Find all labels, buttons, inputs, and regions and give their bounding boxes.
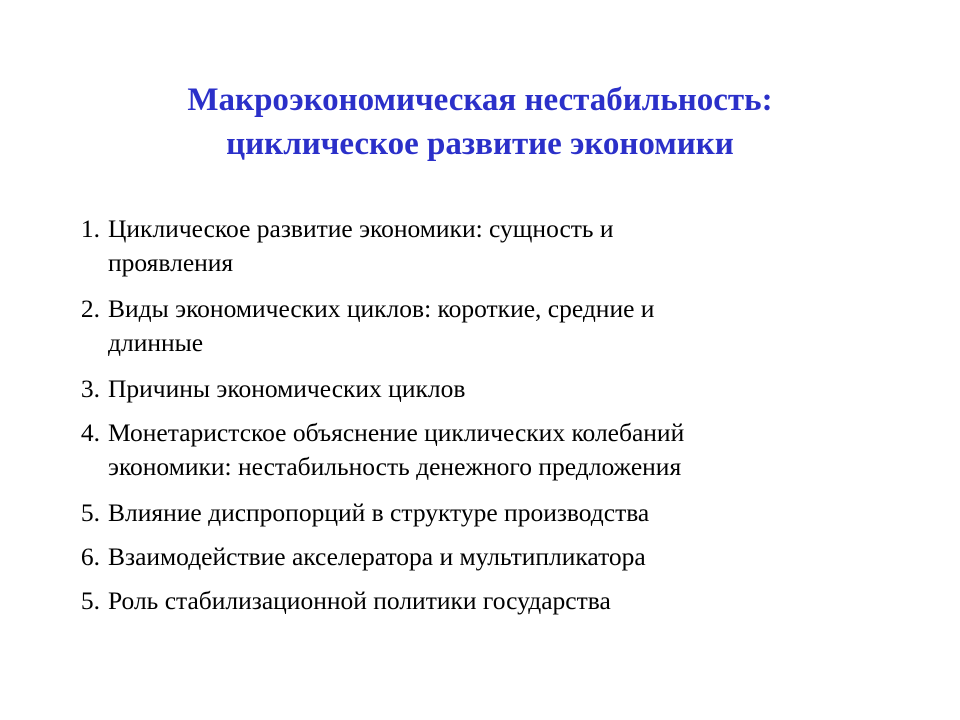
list-item-line-1: Взаимодействие акселератора и мультиплик… [108, 542, 646, 571]
list-item-line-1: Влияние диспропорций в структуре произво… [108, 498, 649, 527]
slide-canvas: Макроэкономическая нестабильность: цикли… [0, 0, 960, 720]
list-item-marker: 6. [72, 540, 108, 574]
list-item-line-1: Виды экономических циклов: короткие, сре… [108, 294, 654, 323]
list-item-line-1: Роль стабилизационной политики государст… [108, 586, 611, 615]
page-title-line-2: циклическое развитие экономики [60, 122, 900, 166]
list-item-marker: 3. [72, 372, 108, 406]
list-item-line-2: проявления [108, 246, 892, 280]
list-item-text: Влияние диспропорций в структуре произво… [108, 496, 892, 530]
list-item-text: Причины экономических циклов [108, 372, 892, 406]
list-item-marker: 4. [72, 416, 108, 450]
agenda-list: 1. Циклическое развитие экономики: сущно… [72, 212, 892, 628]
list-item: 5. Влияние диспропорций в структуре прои… [72, 496, 892, 530]
list-item-text: Роль стабилизационной политики государст… [108, 584, 892, 618]
list-item-text: Виды экономических циклов: короткие, сре… [108, 292, 892, 360]
page-title-line-1: Макроэкономическая нестабильность: [60, 78, 900, 122]
list-item: 1. Циклическое развитие экономики: сущно… [72, 212, 892, 280]
list-item: 6. Взаимодействие акселератора и мультип… [72, 540, 892, 574]
list-item-text: Взаимодействие акселератора и мультиплик… [108, 540, 892, 574]
list-item-marker: 5. [72, 496, 108, 530]
list-item-line-1: Циклическое развитие экономики: сущность… [108, 214, 614, 243]
list-item-line-1: Причины экономических циклов [108, 374, 465, 403]
list-item-marker: 2. [72, 292, 108, 326]
page-title: Макроэкономическая нестабильность: цикли… [60, 78, 900, 166]
list-item-marker: 5. [72, 584, 108, 618]
list-item-line-2: экономики: нестабильность денежного пред… [108, 450, 892, 484]
list-item: 5. Роль стабилизационной политики госуда… [72, 584, 892, 618]
list-item-line-1: Монетаристское объяснение циклических ко… [108, 418, 684, 447]
list-item: 2. Виды экономических циклов: короткие, … [72, 292, 892, 360]
list-item-line-2: длинные [108, 326, 892, 360]
list-item: 4. Монетаристское объяснение циклических… [72, 416, 892, 484]
list-item: 3. Причины экономических циклов [72, 372, 892, 406]
list-item-text: Циклическое развитие экономики: сущность… [108, 212, 892, 280]
list-item-text: Монетаристское объяснение циклических ко… [108, 416, 892, 484]
list-item-marker: 1. [72, 212, 108, 246]
